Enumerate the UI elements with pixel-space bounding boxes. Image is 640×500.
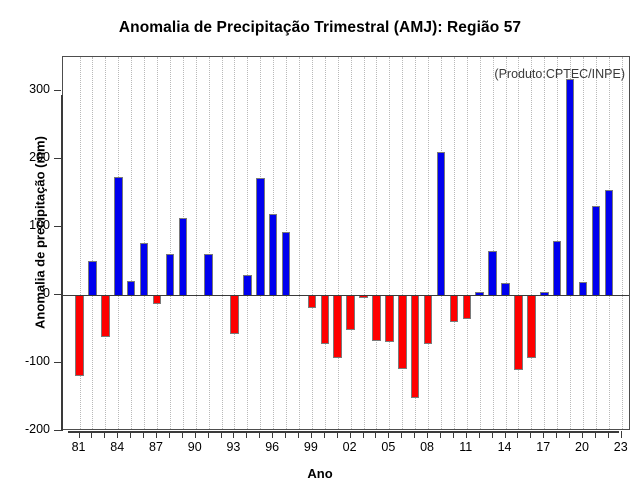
y-axis-tick (54, 294, 61, 295)
bar (114, 177, 123, 295)
x-axis-tick (285, 431, 286, 438)
grid-line (196, 57, 197, 429)
x-axis-tick (466, 431, 467, 438)
x-axis-tick (182, 431, 183, 438)
bar (488, 251, 497, 295)
bar (230, 295, 239, 334)
source-annotation: (Produto:CPTEC/INPE) (494, 67, 625, 81)
x-axis-tick (479, 431, 480, 438)
bar (579, 282, 588, 295)
x-axis-tick-label: 81 (59, 440, 99, 454)
grid-line (364, 57, 365, 429)
bar (321, 295, 330, 344)
x-axis-tick (233, 431, 234, 438)
y-axis-tick (54, 430, 61, 431)
grid-line (622, 57, 623, 429)
y-axis-tick-label: 200 (6, 150, 50, 164)
x-axis-tick-label: 20 (562, 440, 602, 454)
x-axis-tick (117, 431, 118, 438)
y-axis-line (61, 95, 63, 431)
x-axis-tick (363, 431, 364, 438)
x-axis-tick (195, 431, 196, 438)
x-axis-tick (259, 431, 260, 438)
x-axis-tick (543, 431, 544, 438)
x-axis-tick (530, 431, 531, 438)
bar (501, 283, 510, 295)
y-axis-tick-label: -200 (6, 422, 50, 436)
x-axis-tick (79, 431, 80, 438)
bar (411, 295, 420, 398)
x-axis-tick-label: 93 (213, 440, 253, 454)
x-axis-tick-label: 87 (136, 440, 176, 454)
bar (101, 295, 110, 337)
x-axis-tick (143, 431, 144, 438)
grid-line (583, 57, 584, 429)
y-axis-tick-label: 0 (6, 286, 50, 300)
x-axis-tick (595, 431, 596, 438)
bar (346, 295, 355, 330)
grid-line (105, 57, 106, 429)
bar (372, 295, 381, 341)
bar (204, 254, 213, 295)
plot-area: (Produto:CPTEC/INPE) (62, 56, 630, 430)
y-axis-tick-label: -100 (6, 354, 50, 368)
x-axis-tick-label: 05 (368, 440, 408, 454)
y-axis-tick (54, 158, 61, 159)
bar (566, 79, 575, 295)
grid-line (131, 57, 132, 429)
grid-line (92, 57, 93, 429)
x-axis-tick (517, 431, 518, 438)
bar (282, 232, 291, 295)
x-axis-tick-label: 96 (252, 440, 292, 454)
grid-line (325, 57, 326, 429)
x-axis-tick (505, 431, 506, 438)
x-axis-tick (246, 431, 247, 438)
grid-line (531, 57, 532, 429)
grid-line (402, 57, 403, 429)
x-axis-tick (556, 431, 557, 438)
x-axis-tick-label: 02 (330, 440, 370, 454)
x-axis-tick (91, 431, 92, 438)
grid-line (234, 57, 235, 429)
chart-figure: Anomalia de Precipitação Trimestral (AMJ… (0, 0, 640, 500)
x-axis-tick-label: 84 (97, 440, 137, 454)
x-axis-tick (492, 431, 493, 438)
x-axis-tick-label: 17 (523, 440, 563, 454)
grid-line (493, 57, 494, 429)
y-axis-tick (54, 362, 61, 363)
bar (463, 295, 472, 319)
x-axis-tick (401, 431, 402, 438)
x-axis-tick (298, 431, 299, 438)
bar (437, 152, 446, 295)
grid-line (299, 57, 300, 429)
x-axis-tick (221, 431, 222, 438)
grid-line (222, 57, 223, 429)
x-axis-tick (337, 431, 338, 438)
x-axis-tick (311, 431, 312, 438)
bar (179, 218, 188, 295)
bar (605, 190, 614, 295)
bar (153, 295, 162, 304)
x-axis-tick-label: 11 (446, 440, 486, 454)
bar (140, 243, 149, 295)
x-axis-tick (130, 431, 131, 438)
grid-line (338, 57, 339, 429)
bar (553, 241, 562, 295)
grid-line (428, 57, 429, 429)
bar (166, 254, 175, 295)
bar (450, 295, 459, 322)
x-axis-tick-label: 23 (601, 440, 640, 454)
x-axis-title: Ano (0, 466, 640, 481)
bar (527, 295, 536, 358)
x-axis-tick (156, 431, 157, 438)
grid-line (376, 57, 377, 429)
x-axis-tick (324, 431, 325, 438)
x-axis-tick (608, 431, 609, 438)
bar (385, 295, 394, 342)
x-axis-tick (440, 431, 441, 438)
bar (514, 295, 523, 370)
x-axis-tick (569, 431, 570, 438)
x-axis-tick (350, 431, 351, 438)
x-axis-tick (388, 431, 389, 438)
grid-line (506, 57, 507, 429)
bar (398, 295, 407, 369)
grid-line (518, 57, 519, 429)
grid-line (209, 57, 210, 429)
grid-line (157, 57, 158, 429)
bar (424, 295, 433, 344)
x-axis-tick (427, 431, 428, 438)
bar (75, 295, 84, 376)
x-axis-line (68, 431, 619, 433)
x-axis-tick (169, 431, 170, 438)
grid-line (389, 57, 390, 429)
y-axis-tick-label: 300 (6, 82, 50, 96)
bar (592, 206, 601, 295)
bar (308, 295, 317, 308)
grid-line (480, 57, 481, 429)
bar (269, 214, 278, 295)
y-axis-tick (54, 226, 61, 227)
grid-line (544, 57, 545, 429)
x-axis-tick-label: 99 (291, 440, 331, 454)
grid-line (247, 57, 248, 429)
bar (256, 178, 265, 295)
x-axis-tick (208, 431, 209, 438)
chart-title: Anomalia de Precipitação Trimestral (AMJ… (0, 19, 640, 37)
grid-line (351, 57, 352, 429)
x-axis-tick (621, 431, 622, 438)
x-axis-tick (453, 431, 454, 438)
bar (127, 281, 136, 295)
y-axis-tick (54, 90, 61, 91)
zero-baseline (63, 295, 629, 296)
x-axis-tick (414, 431, 415, 438)
bar (333, 295, 342, 358)
x-axis-tick (582, 431, 583, 438)
grid-line (467, 57, 468, 429)
bar (243, 275, 252, 295)
x-axis-tick (375, 431, 376, 438)
x-axis-tick-label: 08 (407, 440, 447, 454)
x-axis-tick (104, 431, 105, 438)
bar (88, 261, 97, 295)
x-axis-tick (272, 431, 273, 438)
grid-line (312, 57, 313, 429)
grid-line (170, 57, 171, 429)
y-axis-tick-label: 100 (6, 218, 50, 232)
x-axis-tick-label: 90 (175, 440, 215, 454)
x-axis-tick-label: 14 (485, 440, 525, 454)
grid-line (454, 57, 455, 429)
